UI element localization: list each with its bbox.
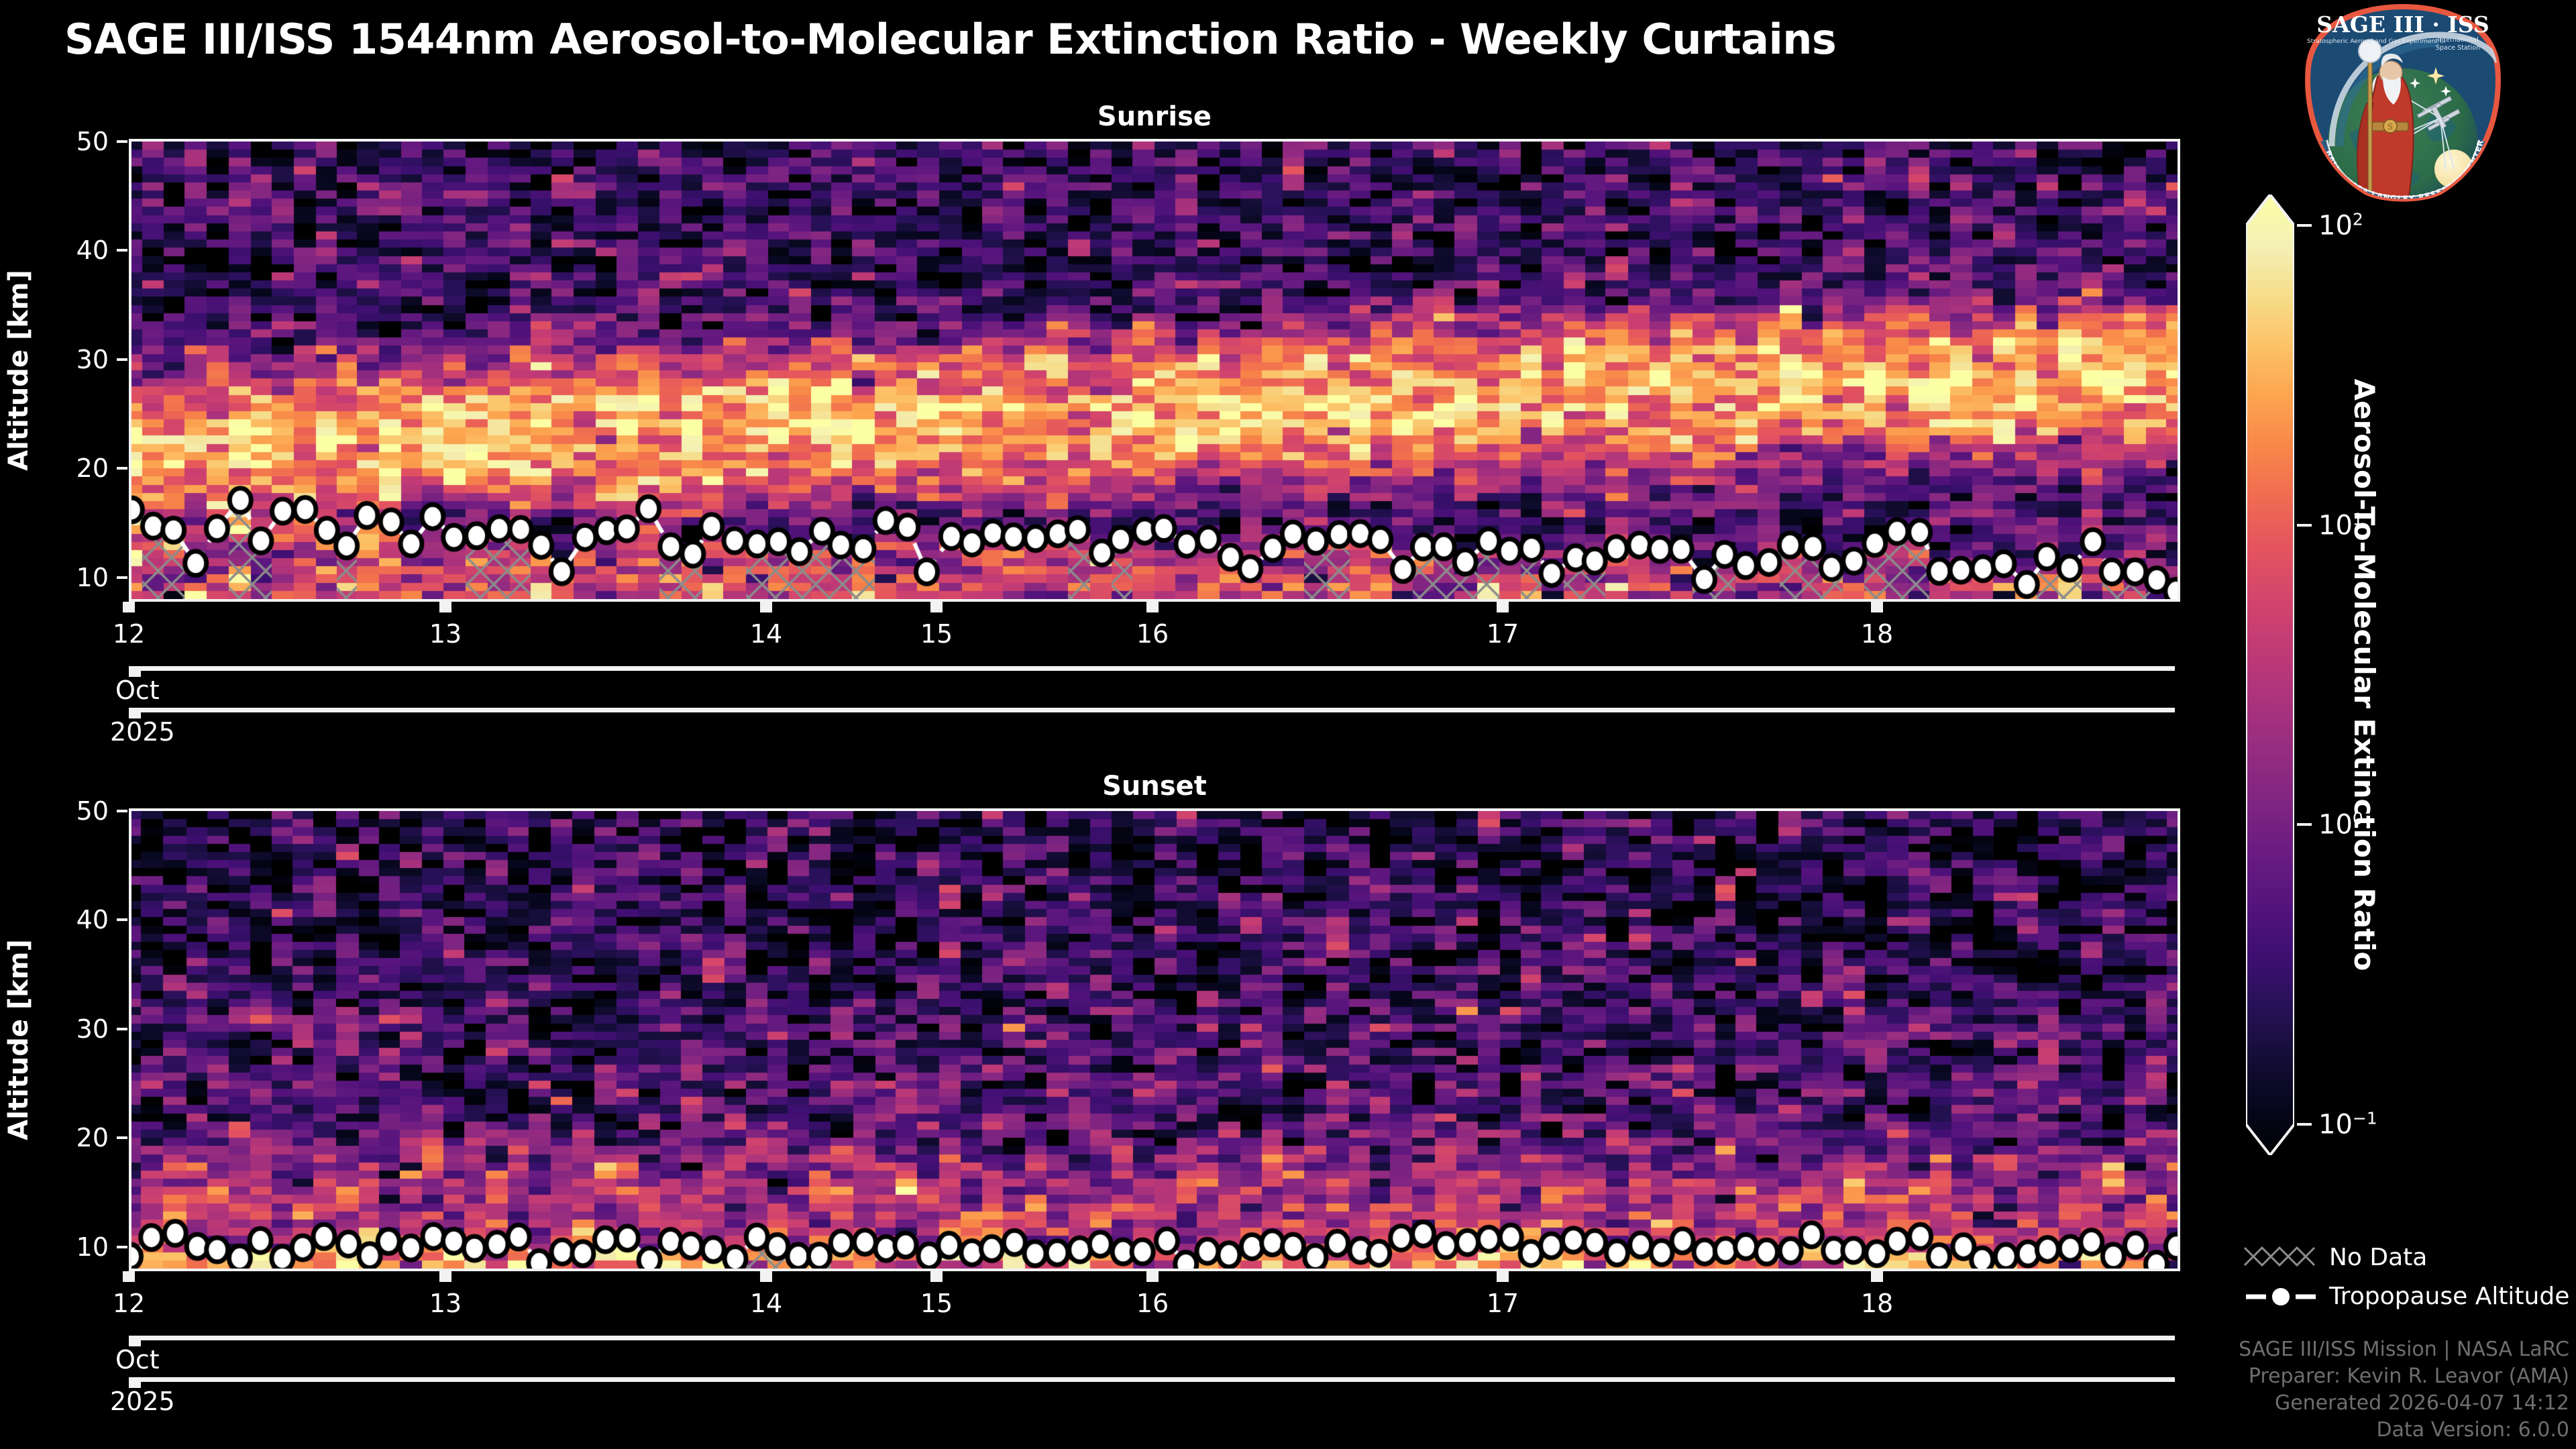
colorbar-gradient [2246,195,2294,1155]
x-tick-mark-sunset-18 [1871,1271,1883,1282]
y-tick-label-sunrise-50: 50 [35,127,109,156]
x-tick-label-sunrise-18: 18 [1837,619,1917,649]
y-axis-label-sunset: Altitude [km] [3,939,34,1140]
x-tick-mark-sunrise-18 [1871,602,1883,612]
x-tick-label-sunset-14: 14 [726,1289,806,1318]
sunrise-overlay [131,142,2178,599]
x-tick-mark-sunrise-15 [930,602,943,612]
x-tick-mark-sunset-17 [1497,1271,1509,1282]
y-tick-mark-sunrise-10 [117,576,127,579]
x-axis-year-label-sunrise: 2025 [110,717,175,747]
x-tick-mark-sunrise-17 [1497,602,1509,612]
y-tick-mark-sunset-50 [117,810,127,812]
no-data-hatch-icon [2243,1238,2318,1277]
y-tick-label-sunrise-30: 30 [35,345,109,374]
x-tick-label-sunset-16: 16 [1112,1289,1193,1318]
x-tick-label-sunrise-17: 17 [1462,619,1543,649]
x-tick-label-sunrise-16: 16 [1112,619,1193,649]
y-tick-label-sunset-40: 40 [35,905,109,934]
sunset-plot-area[interactable] [129,808,2180,1271]
colorbar-tick-mark-2 [2297,524,2312,527]
y-tick-mark-sunset-40 [117,918,127,921]
colorbar-body [2246,195,2294,1155]
colorbar-title: Aerosol-To-Molecular Extinction Ratio [2340,195,2388,1155]
logo-subtitle-right-1: International [2437,36,2478,44]
footer-credits: SAGE III/ISS Mission | NASA LaRC Prepare… [2239,1336,2569,1444]
tropopause-marker-icon [2243,1277,2318,1316]
x-tick-mark-sunset-16 [1146,1271,1159,1282]
y-tick-label-sunset-20: 20 [35,1123,109,1152]
y-tick-label-sunset-50: 50 [35,796,109,826]
x-axis-month-label-sunset: Oct [115,1345,160,1375]
x-tick-mark-sunrise-16 [1146,602,1159,612]
footer-line-2: Preparer: Kevin R. Leavor (AMA) [2239,1363,2569,1390]
x-tick-mark-sunrise-14 [760,602,772,612]
svg-text:S: S [2387,122,2393,131]
page-title: SAGE III/ISS 1544nm Aerosol-to-Molecular… [64,15,1836,64]
y-tick-mark-sunset-30 [117,1028,127,1030]
x-tick-mark-sunset-13 [439,1271,451,1282]
x-tick-label-sunrise-12: 12 [89,619,169,649]
colorbar-tick-mark-0 [2297,1123,2312,1126]
x-tick-label-sunrise-15: 15 [896,619,977,649]
footer-line-4: Data Version: 6.0.0 [2239,1417,2569,1444]
y-tick-mark-sunrise-30 [117,358,127,361]
footer-line-3: Generated 2026-04-07 14:12 [2239,1390,2569,1417]
x-tick-label-sunset-17: 17 [1462,1289,1543,1318]
x-tick-mark-sunrise-13 [439,602,451,612]
x-axis-year-bar-sunset [129,1377,2175,1382]
x-tick-mark-sunset-12 [123,1271,135,1282]
x-tick-label-sunset-15: 15 [896,1289,977,1318]
x-axis-year-label-sunset: 2025 [110,1387,175,1416]
y-tick-mark-sunrise-40 [117,249,127,252]
x-tick-label-sunrise-14: 14 [726,619,806,649]
logo-subtitle-right-2: Space Station [2436,44,2480,52]
panel-sunset: Sunset [129,808,2180,1271]
y-tick-mark-sunrise-50 [117,140,127,143]
logo-subtitle-left: Stratospheric Aerosol and Gas Experiment… [2307,38,2445,45]
y-tick-label-sunset-10: 10 [35,1232,109,1262]
legend-row-tropopause: Tropopause Altitude [2243,1277,2559,1316]
legend-row-no-data: No Data [2243,1238,2559,1277]
x-tick-mark-sunrise-12 [123,602,135,612]
x-tick-label-sunrise-13: 13 [405,619,486,649]
x-tick-label-sunset-13: 13 [405,1289,486,1318]
x-axis-year-bar-sunrise [129,708,2175,712]
sunset-overlay [131,811,2178,1269]
panel-sunset-title: Sunset [129,771,2180,802]
y-tick-mark-sunset-10 [117,1246,127,1248]
legend-label-tropopause: Tropopause Altitude [2329,1283,2569,1310]
colorbar-tick-mark-3 [2297,224,2312,227]
colorbar-tick-mark-1 [2297,823,2312,826]
panel-sunrise: Sunrise [129,139,2180,602]
y-tick-label-sunrise-10: 10 [35,563,109,592]
x-axis-month-bar-sunrise [129,666,2175,671]
x-tick-label-sunset-18: 18 [1837,1289,1917,1318]
x-tick-mark-sunset-14 [760,1271,772,1282]
panel-sunrise-title: Sunrise [129,101,2180,132]
y-tick-mark-sunrise-20 [117,467,127,470]
x-axis-month-label-sunrise: Oct [115,676,160,705]
y-tick-mark-sunset-20 [117,1136,127,1139]
colorbar[interactable]: 10−1100101102 [2246,195,2294,1155]
x-tick-label-sunset-12: 12 [89,1289,169,1318]
sunrise-plot-area[interactable] [129,139,2180,602]
footer-line-1: SAGE III/ISS Mission | NASA LaRC [2239,1336,2569,1363]
legend: No Data Tropopause Altitude [2243,1238,2559,1316]
x-axis-month-bar-sunset [129,1336,2175,1340]
y-axis-label-sunrise: Altitude [km] [3,270,34,471]
legend-label-no-data: No Data [2329,1244,2427,1271]
y-tick-label-sunrise-20: 20 [35,453,109,483]
y-tick-label-sunset-30: 30 [35,1014,109,1044]
x-tick-mark-sunset-15 [930,1271,943,1282]
sage-iii-iss-mission-patch: S BALL · NASA LANGLEY RESEARCH CENTER · … [2302,3,2504,204]
y-tick-label-sunrise-40: 40 [35,235,109,265]
logo-headline: SAGE III · ISS [2316,11,2489,38]
